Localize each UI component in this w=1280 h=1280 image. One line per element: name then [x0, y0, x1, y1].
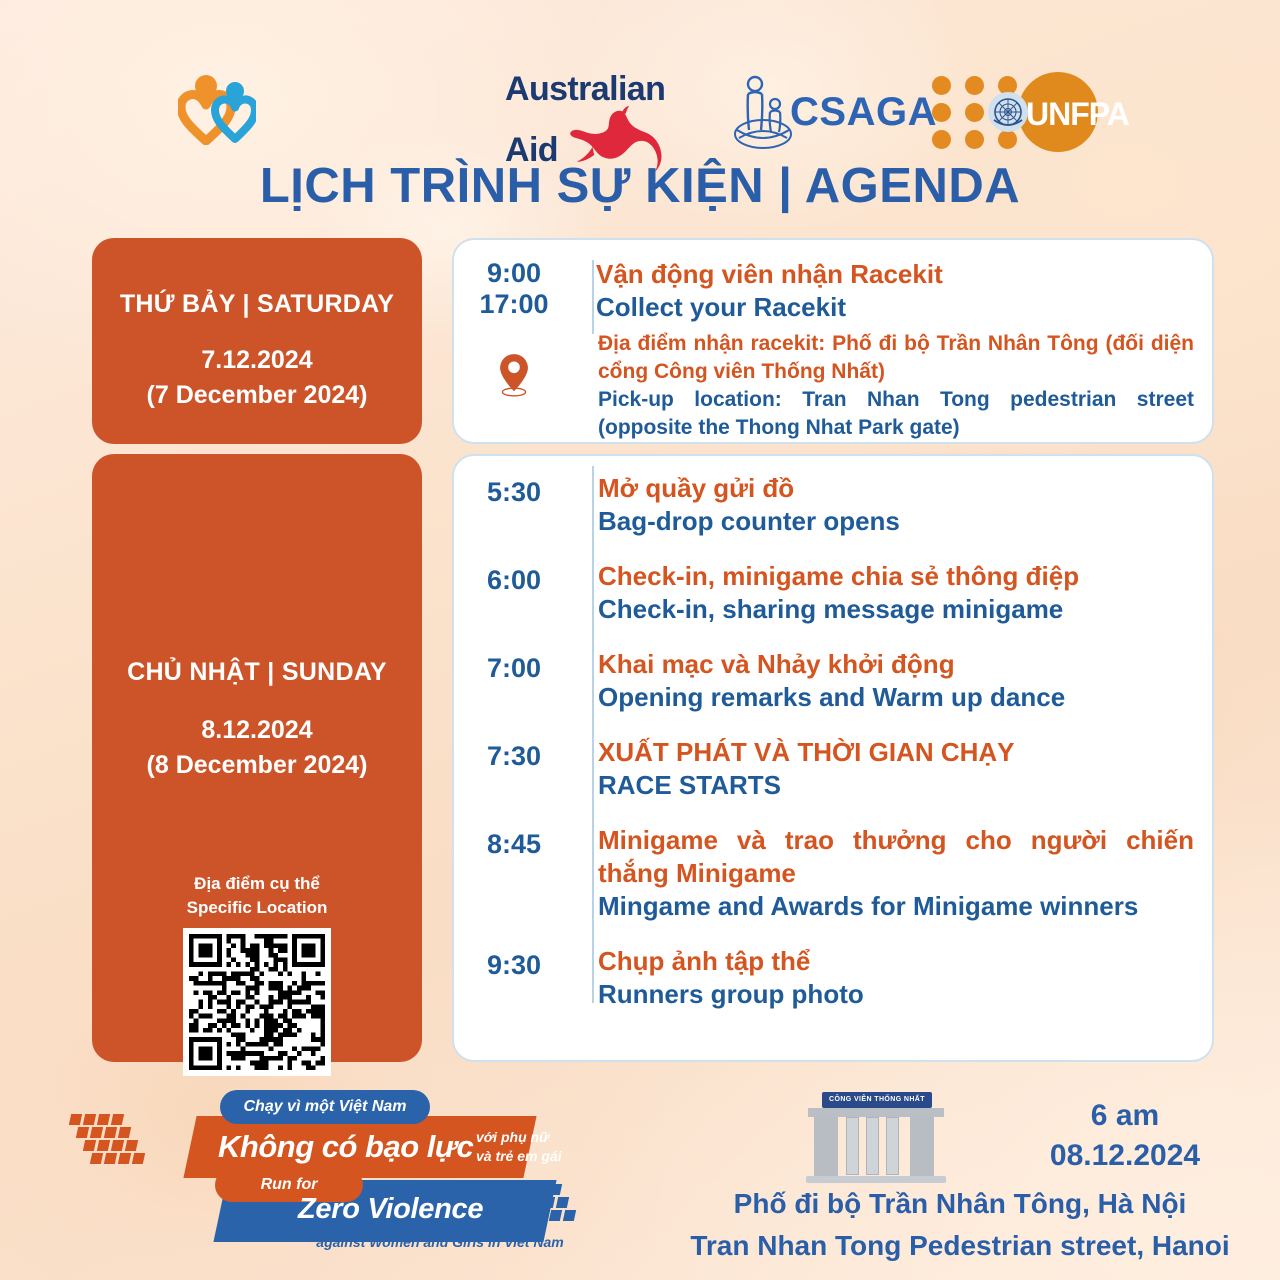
unfpa-wordmark: UNFPA — [1026, 96, 1129, 133]
day-label-saturday: THỨ BẢY | SATURDAY — [92, 290, 422, 319]
schedule-row: 8:45Minigame và trao thưởng cho người ch… — [454, 824, 1212, 923]
row-divider — [592, 466, 594, 1003]
schedule-row-en: Check-in, sharing message minigame — [598, 593, 1194, 626]
schedule-row-body: Check-in, minigame chia sẻ thông điệpChe… — [576, 560, 1212, 626]
schedule-row-time: 5:30 — [454, 472, 574, 538]
unfpa-logo: UNFPA — [932, 72, 1107, 152]
schedule-row-time: 6:00 — [454, 560, 574, 626]
gate-lintel — [808, 1108, 944, 1117]
schedule-panel-saturday: 9:00 17:00 Vận động viên nhận Racekit Co… — [452, 238, 1214, 444]
racekit-time: 9:00 17:00 — [454, 258, 574, 324]
schedule-row: 5:30Mở quầy gửi đồBag-drop counter opens — [454, 472, 1212, 538]
schedule-row: 7:00Khai mạc và Nhảy khởi độngOpening re… — [454, 648, 1212, 714]
schedule-row-vi: XUẤT PHÁT VÀ THỜI GIAN CHẠY — [598, 736, 1194, 769]
gate-base — [806, 1176, 946, 1183]
racekit-text: Vận động viên nhận Racekit Collect your … — [574, 258, 1212, 324]
csaga-mark-icon — [733, 72, 793, 152]
australian-aid-line1: Australian — [505, 72, 695, 106]
schedule-row: 6:00Check-in, minigame chia sẻ thông điệ… — [454, 560, 1212, 626]
racekit-time-end: 17:00 — [454, 289, 574, 320]
day-card-sunday: CHỦ NHẬT | SUNDAY 8.12.2024 (8 December … — [92, 454, 422, 1062]
qr-caption-vi: Địa điểm cụ thể — [92, 872, 422, 896]
gate-sign: CÔNG VIÊN THỐNG NHẤT — [822, 1092, 932, 1108]
qr-code-svg — [189, 934, 325, 1070]
schedule-panel-sunday: 5:30Mở quầy gửi đồBag-drop counter opens… — [452, 454, 1214, 1062]
campaign-headline-vi: Không có bạo lực — [218, 1122, 518, 1172]
csaga-logo: CSAGA — [733, 72, 898, 152]
un-emblem-icon — [988, 92, 1028, 132]
event-time: 6 am — [990, 1096, 1260, 1136]
day-date-short-sunday: 8.12.2024 — [92, 713, 422, 748]
qr-block: Địa điểm cụ thể Specific Location — [92, 872, 422, 1076]
qr-code-image[interactable] — [183, 928, 331, 1076]
schedule-row-vi: Chụp ảnh tập thể — [598, 945, 1194, 978]
schedule-row-en: Opening remarks and Warm up dance — [598, 681, 1194, 714]
day-date-long-saturday: (7 December 2024) — [92, 378, 422, 413]
racekit-title-vi: Vận động viên nhận Racekit — [596, 258, 1194, 291]
page-title: LỊCH TRÌNH SỰ KIỆN | AGENDA — [0, 158, 1280, 214]
schedule-row-body: Chụp ảnh tập thểRunners group photo — [576, 945, 1212, 1011]
footer: Chạy vì một Việt Nam Không có bạo lực vớ… — [0, 1080, 1280, 1280]
australian-aid-logo: Australian Aid — [505, 72, 695, 150]
schedule-row-time: 8:45 — [454, 824, 574, 923]
gate-pillar — [886, 1117, 899, 1175]
schedule-row-body: Minigame và trao thưởng cho người chiến … — [576, 824, 1212, 923]
schedule-row-body: Khai mạc và Nhảy khởi độngOpening remark… — [576, 648, 1212, 714]
schedule-row-vi: Khai mạc và Nhảy khởi động — [598, 648, 1194, 681]
day-card-saturday: THỨ BẢY | SATURDAY 7.12.2024 (7 December… — [92, 238, 422, 444]
partnership-hearts-icon — [178, 73, 256, 145]
racekit-location-vi: Địa điểm nhận racekit: Phố đi bộ Trần Nh… — [598, 330, 1194, 386]
gate-pillar — [846, 1117, 859, 1175]
campaign-headline-vi-sub: với phụ nữ và trẻ em gái — [476, 1128, 606, 1166]
event-date: 08.12.2024 — [990, 1136, 1260, 1176]
schedule-row-en: Runners group photo — [598, 978, 1194, 1011]
campaign-tagline-pill: Chạy vì một Việt Nam — [220, 1090, 430, 1124]
racekit-location-en: Pick-up location: Tran Nhan Tong pedestr… — [598, 386, 1194, 442]
schedule-row-en: Mingame and Awards for Minigame winners — [598, 890, 1194, 923]
gate-pillar — [814, 1117, 838, 1177]
gate-sign-text: CÔNG VIÊN THỐNG NHẤT — [822, 1092, 932, 1108]
row-divider — [592, 260, 594, 334]
schedule-row-racekit: 9:00 17:00 Vận động viên nhận Racekit Co… — [454, 240, 1212, 324]
agenda-grid: THỨ BẢY | SATURDAY 7.12.2024 (7 December… — [0, 238, 1280, 1078]
qr-caption-en: Specific Location — [92, 896, 422, 920]
schedule-row-en: Bag-drop counter opens — [598, 505, 1194, 538]
campaign-headline-vi-sub2: và trẻ em gái — [476, 1147, 606, 1166]
schedule-row-time: 7:00 — [454, 648, 574, 714]
day-date-long-sunday: (8 December 2024) — [92, 748, 422, 783]
racekit-time-start: 9:00 — [454, 258, 574, 289]
schedule-row-vi: Minigame và trao thưởng cho người chiến … — [598, 824, 1194, 890]
schedule-row-body: Mở quầy gửi đồBag-drop counter opens — [576, 472, 1212, 538]
racekit-location-text: Địa điểm nhận racekit: Phố đi bộ Trần Nh… — [574, 330, 1212, 442]
campaign-headline-en-sub: against Women and Girls in Viet Nam — [260, 1234, 620, 1250]
schedule-row-time: 7:30 — [454, 736, 574, 802]
location-pin-icon — [454, 330, 574, 442]
campaign-headline-vi-sub1: với phụ nữ — [476, 1128, 606, 1147]
schedule-row-body: XUẤT PHÁT VÀ THỜI GIAN CHẠYRACE STARTS — [576, 736, 1212, 802]
venue-address-en: Tran Nhan Tong Pedestrian street, Hanoi — [660, 1230, 1260, 1262]
racekit-title-en: Collect your Racekit — [596, 291, 1194, 324]
venue-address-vi: Phố đi bộ Trần Nhân Tông, Hà Nội — [660, 1188, 1260, 1220]
schedule-row-time: 9:30 — [454, 945, 574, 1011]
day-date-short-saturday: 7.12.2024 — [92, 343, 422, 378]
schedule-row-vi: Check-in, minigame chia sẻ thông điệp — [598, 560, 1194, 593]
schedule-row-en: RACE STARTS — [598, 769, 1194, 802]
csaga-wordmark: CSAGA — [790, 90, 937, 135]
schedule-row: 7:30XUẤT PHÁT VÀ THỜI GIAN CHẠYRACE STAR… — [454, 736, 1212, 802]
sunday-rows: 5:30Mở quầy gửi đồBag-drop counter opens… — [454, 456, 1212, 1011]
day-date-sunday: 8.12.2024 (8 December 2024) — [92, 713, 422, 783]
gate-pillar — [910, 1117, 934, 1177]
event-time-date: 6 am 08.12.2024 — [990, 1096, 1260, 1176]
day-label-sunday: CHỦ NHẬT | SUNDAY — [92, 658, 422, 687]
day-date-saturday: 7.12.2024 (7 December 2024) — [92, 343, 422, 413]
campaign-headline-en: Zero Violence — [298, 1186, 588, 1232]
gate-pillar — [866, 1117, 879, 1175]
campaign-tagline-vi: Chạy vì một Việt Nam — [220, 1090, 430, 1124]
schedule-row-vi: Mở quầy gửi đồ — [598, 472, 1194, 505]
racekit-location-block: Địa điểm nhận racekit: Phố đi bộ Trần Nh… — [454, 330, 1212, 442]
campaign-logo: Chạy vì một Việt Nam Không có bạo lực vớ… — [70, 1088, 570, 1253]
sponsor-logo-bar: Australian Aid CSAGA — [0, 28, 1280, 138]
schedule-row: 9:30Chụp ảnh tập thểRunners group photo — [454, 945, 1212, 1011]
thong-nhat-park-gate-icon: CÔNG VIÊN THỐNG NHẤT — [800, 1088, 950, 1188]
